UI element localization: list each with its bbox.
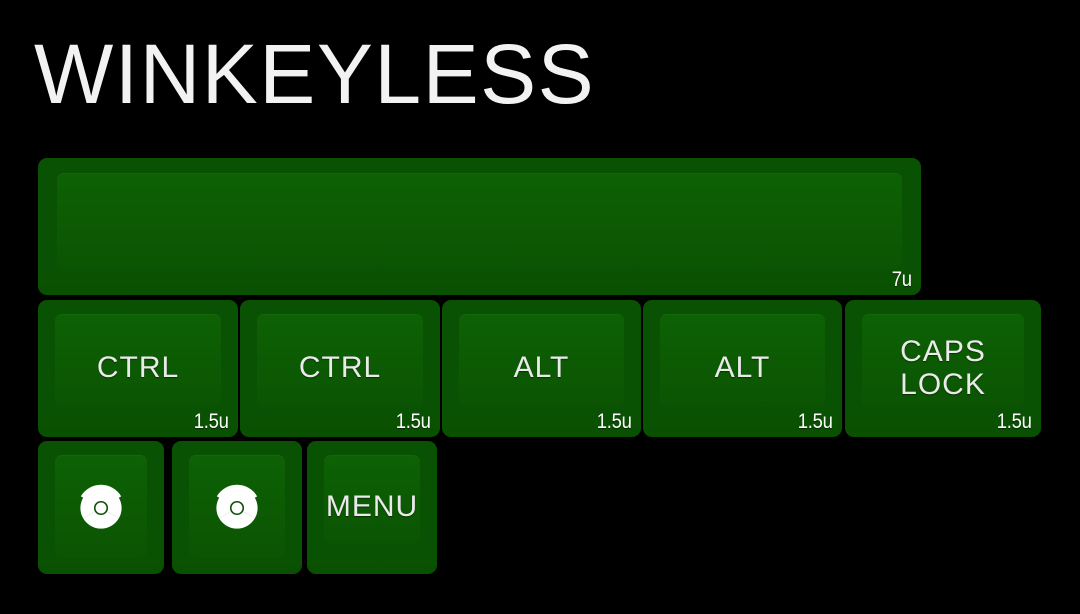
page-root: WINKEYLESS 7uCTRL1.5uCTRL1.5uALT1.5uALT1…	[0, 0, 1080, 614]
keycap-top-surface	[459, 314, 624, 407]
key-size-label: 1.5u	[997, 410, 1032, 434]
key-radiation-1[interactable]	[38, 441, 164, 574]
key-radiation-2[interactable]	[172, 441, 302, 574]
keycap-top-surface	[660, 314, 825, 407]
key-spacebar[interactable]: 7u	[38, 158, 921, 295]
keycap-top-surface	[57, 173, 902, 269]
keycap-layout: 7uCTRL1.5uCTRL1.5uALT1.5uALT1.5uCAPSLOCK…	[0, 0, 1080, 614]
key-alt-left[interactable]: ALT1.5u	[442, 300, 641, 437]
keycap-top-surface	[862, 314, 1024, 407]
key-size-label: 1.5u	[798, 410, 833, 434]
key-menu[interactable]: MENU	[307, 441, 437, 574]
key-size-label: 7u	[892, 268, 912, 292]
key-alt-right[interactable]: ALT1.5u	[643, 300, 842, 437]
keycap-top-surface	[55, 314, 221, 407]
keycap-top-surface	[324, 455, 420, 544]
key-size-label: 1.5u	[194, 410, 229, 434]
key-size-label: 1.5u	[396, 410, 431, 434]
key-ctrl-right[interactable]: CTRL1.5u	[240, 300, 440, 437]
key-ctrl-left[interactable]: CTRL1.5u	[38, 300, 238, 437]
keycap-top-surface	[55, 455, 147, 558]
keycap-top-surface	[189, 455, 285, 558]
key-caps-lock[interactable]: CAPSLOCK1.5u	[845, 300, 1041, 437]
keycap-top-surface	[257, 314, 423, 407]
key-size-label: 1.5u	[597, 410, 632, 434]
